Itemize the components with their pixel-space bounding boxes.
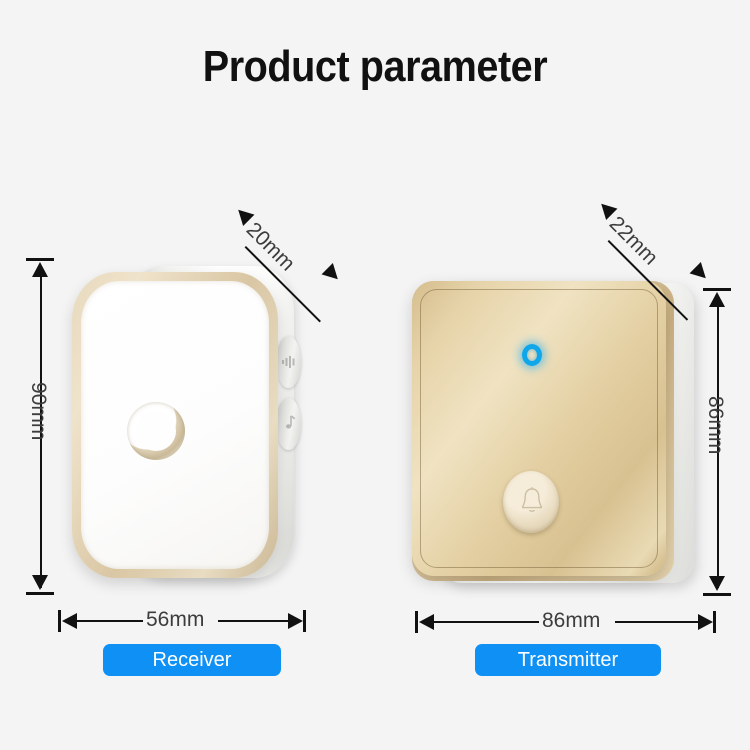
arrow-right-icon [698,614,713,630]
arrow-right-icon [288,613,303,629]
dim-cap-top [26,258,54,261]
dim-cap-left [415,611,418,633]
transmitter-gold-edge [412,281,674,581]
melody-button[interactable] [276,398,301,450]
transmitter-front-face [412,281,666,576]
arrow-down-icon [32,575,48,590]
dim-cap-right [713,611,716,633]
receiver-device-image [72,258,302,588]
dim-line-left [434,621,539,623]
dim-line-right [615,621,698,623]
receiver-label-badge[interactable]: Receiver [103,644,281,676]
transmitter-width-value: 86mm [542,609,600,633]
receiver-height-value: 90mm [26,382,50,440]
dim-cap-left [58,610,61,632]
page-title: Product parameter [38,42,713,92]
transmitter-label-badge[interactable]: Transmitter [475,644,661,676]
receiver-gold-bezel [72,272,278,578]
led-ring-indicator [127,402,185,460]
arrow-left-icon [62,613,77,629]
receiver-width-value: 56mm [146,608,204,632]
volume-button[interactable] [276,336,301,388]
arrow-down-icon [709,576,725,591]
dim-line-left [77,620,143,622]
transmitter-depth-value: 22mm [604,212,662,270]
led-ring-center [136,411,176,451]
dim-cap-bottom [26,592,54,595]
transmitter-height-value: 86mm [703,396,727,454]
arrow-upleft-icon [233,204,255,226]
transmitter-device-image [404,275,704,590]
product-parameter-diagram: Product parameter [0,0,750,750]
music-note-icon [281,414,296,434]
dim-cap-right [303,610,306,632]
dim-line-right [218,620,288,622]
dim-cap-bottom [703,593,731,596]
arrow-downright-icon [322,263,344,285]
arrow-left-icon [419,614,434,630]
volume-icon [281,352,296,372]
doorbell-button[interactable] [503,471,559,533]
blue-led-indicator [522,344,542,366]
arrow-upleft-icon [596,198,618,220]
bell-icon [519,486,545,516]
receiver-front-face [81,281,269,569]
dim-cap-top [703,288,731,291]
